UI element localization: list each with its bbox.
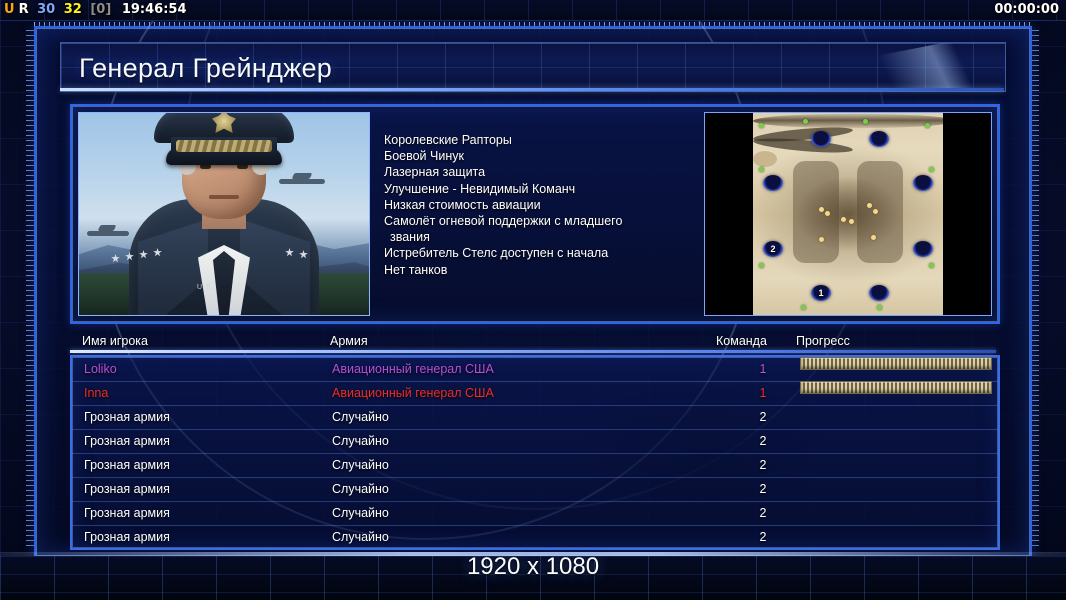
progress-bar: [800, 381, 992, 394]
osd-tag-u: U: [4, 2, 15, 17]
start-position: [763, 175, 783, 191]
player-army: Случайно: [332, 453, 389, 477]
start-position: [869, 285, 889, 301]
supply-dock-icon: [925, 123, 930, 128]
table-row[interactable]: Грозная армияСлучайно2: [72, 405, 998, 430]
supply-dock-icon: [759, 263, 764, 268]
supply-dock-icon: [929, 263, 934, 268]
player-army: Случайно: [332, 405, 389, 429]
player-army: Случайно: [332, 525, 389, 549]
player-name: Грозная армия: [84, 501, 170, 525]
oil-derrick-icon: [819, 237, 824, 242]
title-underline: [60, 88, 1004, 91]
header-divider: [70, 350, 996, 353]
oil-derrick-icon: [841, 217, 846, 222]
map-canyon-left: [793, 161, 839, 263]
osd-tag-r: R: [19, 2, 29, 17]
portrait-visor-scrambled-egg: [176, 140, 272, 152]
ability-line-continued: звания: [384, 229, 674, 245]
supply-dock-icon: [877, 305, 882, 310]
general-info-panel: U.S. Королевские Рапторы Боевой Чинук Ла…: [70, 104, 1000, 324]
map-canyon-right: [857, 161, 903, 263]
general-portrait: U.S.: [78, 112, 370, 316]
resolution-label: 1920 x 1080: [0, 553, 1066, 581]
ability-line: Боевой Чинук: [384, 148, 674, 164]
start-position-2: 2: [763, 241, 783, 257]
supply-dock-icon: [801, 305, 806, 310]
aircraft-icon: [87, 231, 129, 236]
loading-dialog: Генерал Грейнджер: [34, 26, 1032, 558]
start-position: [913, 175, 933, 191]
aircraft-icon: [279, 179, 325, 184]
osd-value-2: 32: [64, 2, 82, 17]
player-name: Грозная армия: [84, 405, 170, 429]
ability-line: Королевские Рапторы: [384, 132, 674, 148]
supply-dock-icon: [929, 167, 934, 172]
supply-dock-icon: [759, 167, 764, 172]
column-header-army: Армия: [330, 332, 368, 350]
column-header-team: Команда: [716, 332, 767, 350]
osd-status-bar: UR 30 32 [0] 19:46:54 00:00:00: [0, 0, 1066, 21]
osd-timer: 00:00:00: [994, 1, 1059, 19]
ability-line: Истребитель Стелс доступен с начала: [384, 245, 674, 261]
player-army: Случайно: [332, 501, 389, 525]
table-row[interactable]: Грозная армияСлучайно2: [72, 453, 998, 478]
oil-derrick-icon: [871, 235, 876, 240]
uniform-insignia: U.S.: [197, 284, 215, 291]
player-team: 2: [748, 453, 778, 477]
player-name: Грозная армия: [84, 429, 170, 453]
player-team: 2: [748, 477, 778, 501]
oil-derrick-icon: [873, 209, 878, 214]
player-name: Грозная армия: [84, 453, 170, 477]
portrait-mouth: [209, 195, 239, 199]
osd-value-1: 30: [37, 2, 55, 17]
table-row[interactable]: Грозная армияСлучайно2: [72, 429, 998, 454]
table-row[interactable]: LolikoАвиационный генерал США1: [72, 357, 998, 382]
player-team: 2: [748, 405, 778, 429]
player-team: 1: [748, 357, 778, 381]
oil-derrick-icon: [819, 207, 824, 212]
supply-dock-icon: [759, 123, 764, 128]
ability-line: Лазерная защита: [384, 164, 674, 180]
start-position: [869, 131, 889, 147]
oil-derrick-icon: [849, 219, 854, 224]
ability-line: Самолёт огневой поддержки с младшего: [384, 213, 674, 229]
start-position: [913, 241, 933, 257]
player-army: Случайно: [332, 477, 389, 501]
player-army: Авиационный генерал США: [332, 381, 494, 405]
player-team: 2: [748, 525, 778, 549]
player-team: 2: [748, 429, 778, 453]
player-name: Грозная армия: [84, 525, 170, 549]
map-river: [753, 114, 943, 128]
start-position: [811, 131, 831, 147]
osd-left-group: UR 30 32 [0] 19:46:54: [4, 1, 191, 19]
column-header-player: Имя игрока: [82, 332, 148, 350]
ability-line: Улучшение - Невидимый Команч: [384, 181, 674, 197]
table-row[interactable]: Грозная армияСлучайно2: [72, 525, 998, 550]
player-army: Случайно: [332, 429, 389, 453]
oil-derrick-icon: [867, 203, 872, 208]
game-screen: UR 30 32 [0] 19:46:54 00:00:00 Генерал Г…: [0, 0, 1066, 600]
supply-dock-icon: [863, 119, 868, 124]
osd-bracket: [0]: [90, 2, 111, 17]
table-row[interactable]: Грозная армияСлучайно2: [72, 501, 998, 526]
player-name: Loliko: [84, 357, 117, 381]
player-name: Inna: [84, 381, 108, 405]
title-bar: Генерал Грейнджер: [60, 42, 1006, 92]
progress-cell: [800, 357, 992, 370]
map-terrain: 21: [753, 113, 943, 315]
start-position-1: 1: [811, 285, 831, 301]
ability-line: Нет танков: [384, 262, 674, 278]
ability-line: Низкая стоимость авиации: [384, 197, 674, 213]
player-list: LolikoАвиационный генерал США1InnaАвиаци…: [70, 355, 1000, 550]
map-preview: 21: [704, 112, 992, 316]
player-name: Грозная армия: [84, 477, 170, 501]
table-row[interactable]: InnaАвиационный генерал США1: [72, 381, 998, 406]
player-army: Авиационный генерал США: [332, 357, 494, 381]
player-team: 1: [748, 381, 778, 405]
map-center-clearing: [753, 151, 777, 167]
player-team: 2: [748, 501, 778, 525]
osd-clock: 19:46:54: [122, 2, 187, 17]
column-header-progress: Прогресс: [796, 332, 850, 350]
oil-derrick-icon: [825, 211, 830, 216]
table-row[interactable]: Грозная армияСлучайно2: [72, 477, 998, 502]
progress-bar: [800, 357, 992, 370]
general-abilities-list: Королевские Рапторы Боевой Чинук Лазерна…: [384, 132, 674, 278]
progress-cell: [800, 381, 992, 394]
supply-dock-icon: [803, 119, 808, 124]
page-title: Генерал Грейнджер: [79, 49, 332, 87]
